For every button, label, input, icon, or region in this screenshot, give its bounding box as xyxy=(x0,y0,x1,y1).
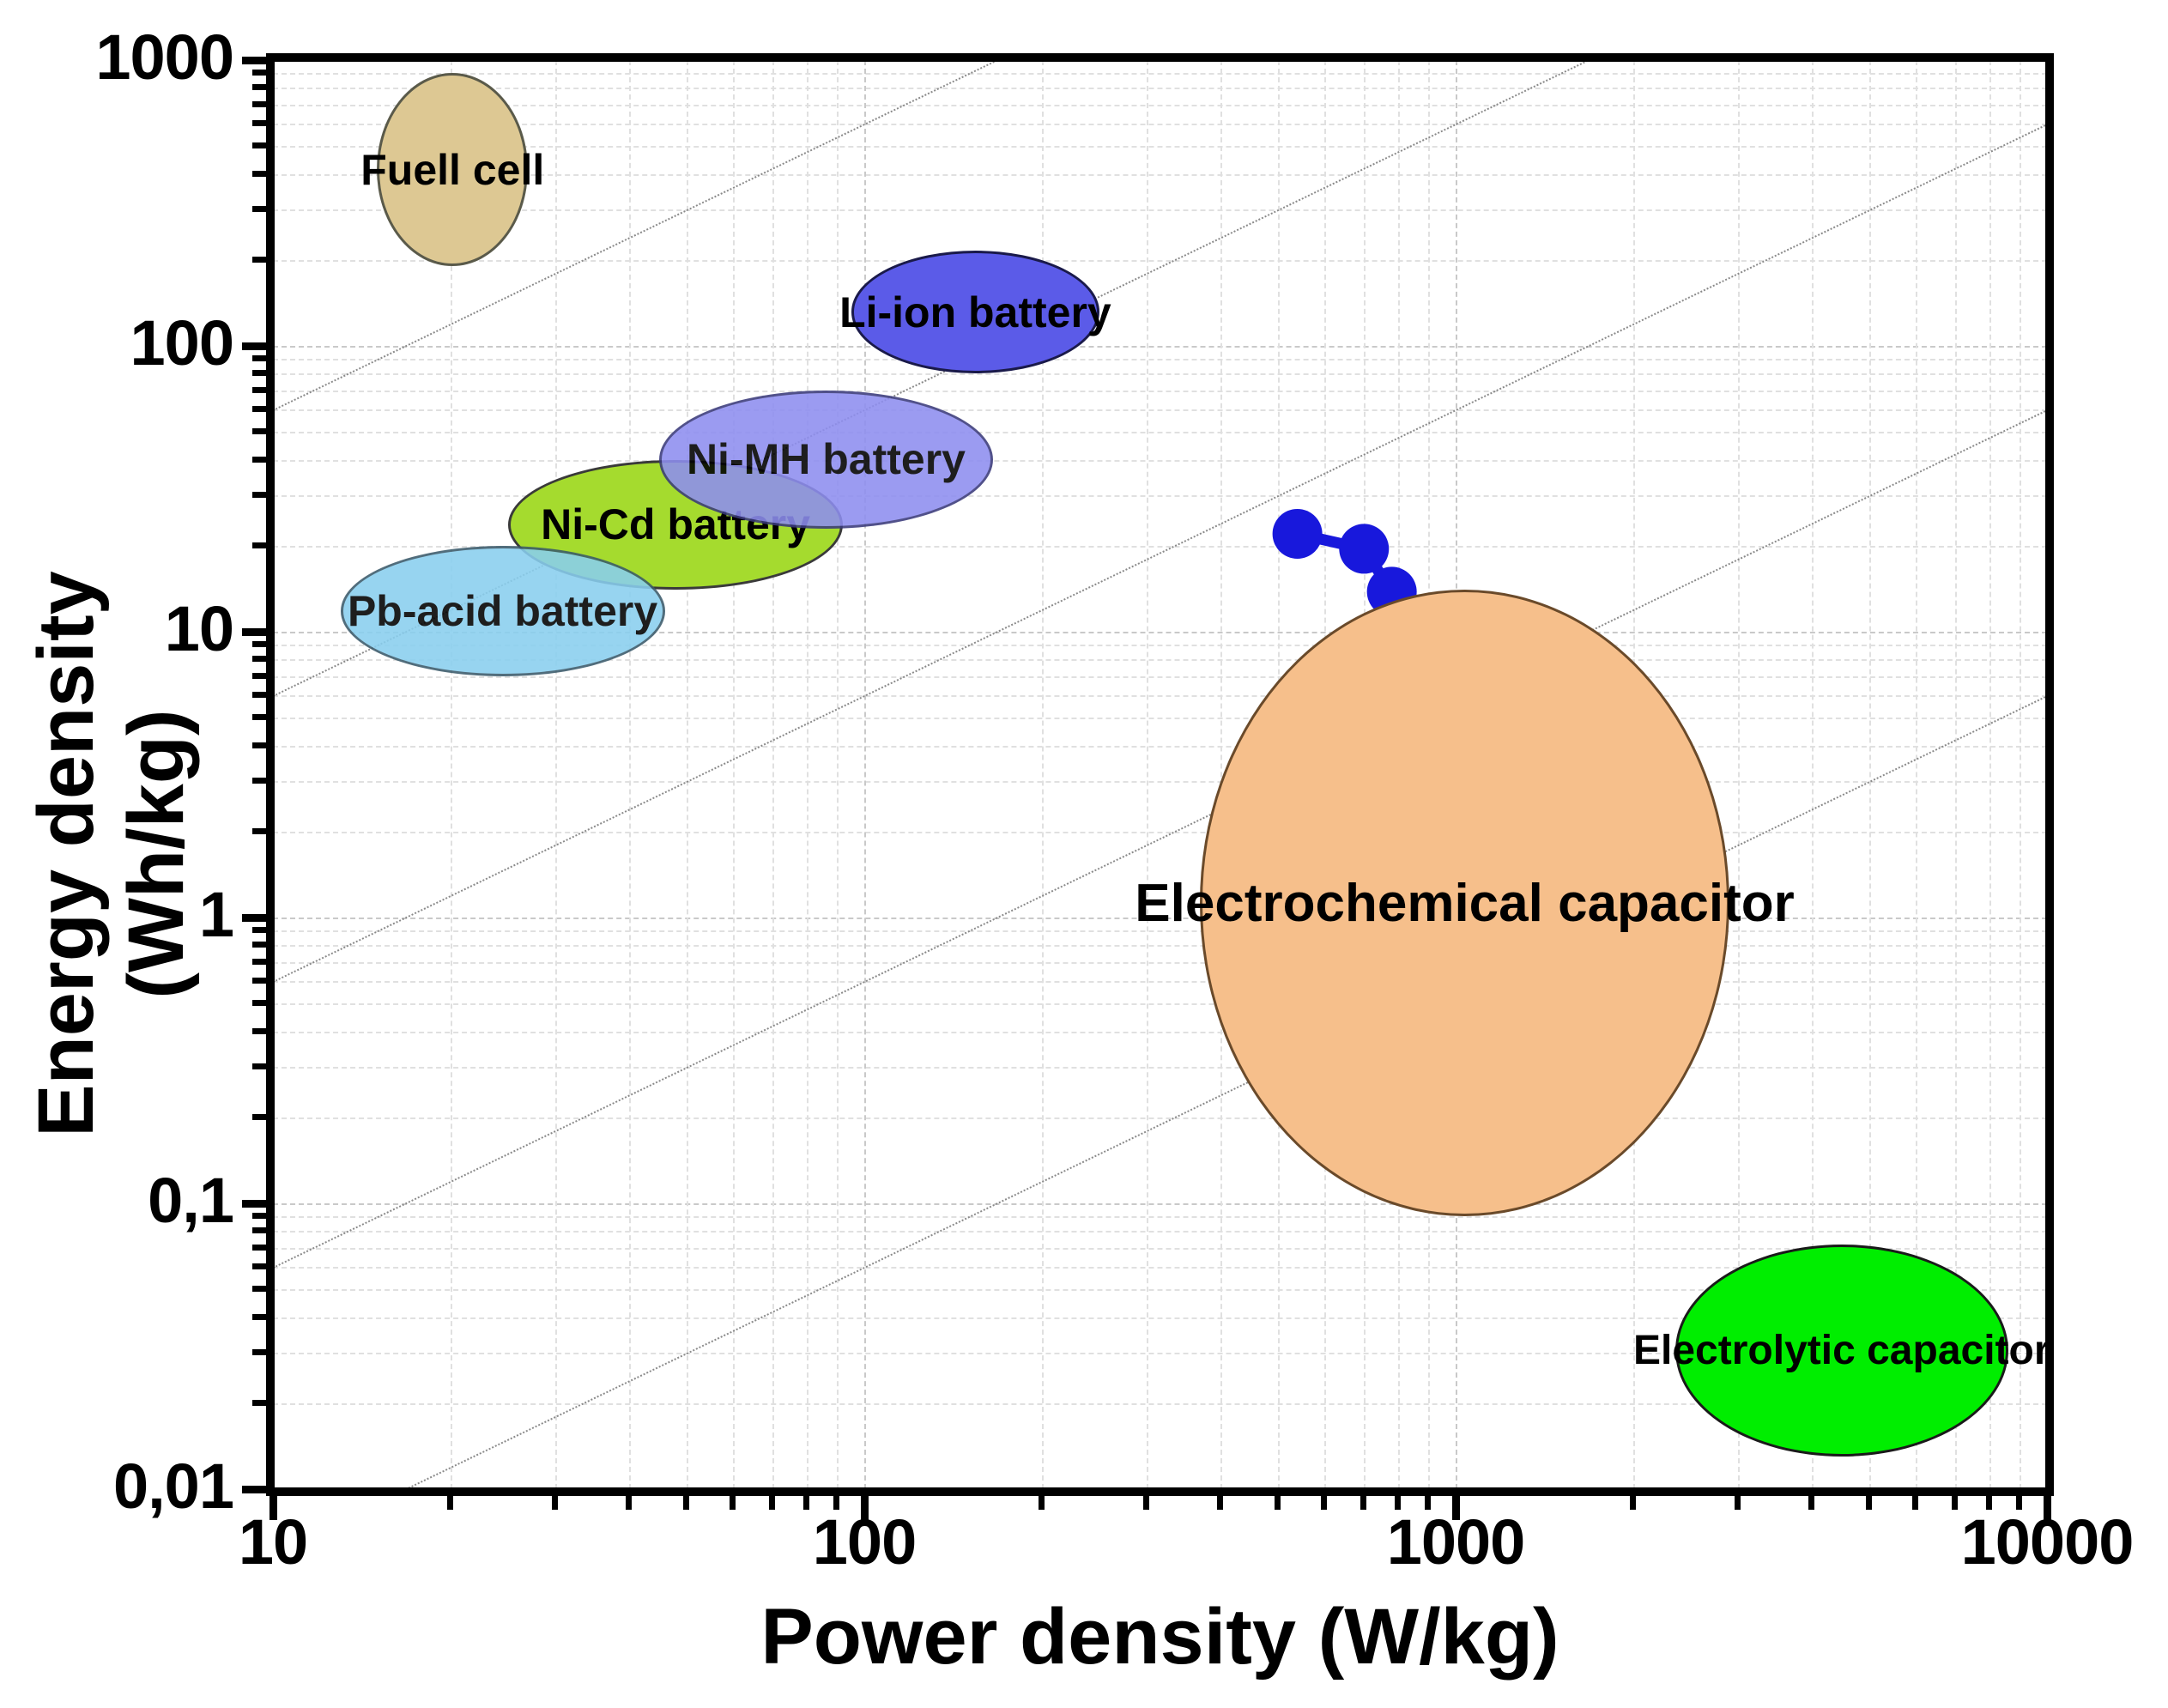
grid-line-vertical xyxy=(837,60,839,1489)
grid-line-horizontal xyxy=(273,73,2047,75)
x-tick-minor xyxy=(803,1487,809,1510)
grid-line-horizontal xyxy=(273,409,2047,411)
y-tick-minor xyxy=(252,1114,275,1120)
grid-line-horizontal xyxy=(273,209,2047,211)
axis-spine-top xyxy=(266,53,2054,62)
grid-line-horizontal xyxy=(273,781,2047,783)
y-tick-minor xyxy=(252,120,275,126)
y-tick-major xyxy=(242,914,275,922)
y-tick-minor xyxy=(252,101,275,107)
y-tick-minor xyxy=(252,70,275,76)
grid-line-horizontal xyxy=(273,962,2047,964)
y-tick-minor xyxy=(252,978,275,984)
x-tick-minor xyxy=(730,1487,736,1510)
grid-line-vertical xyxy=(629,60,631,1489)
y-tick-minor xyxy=(252,1400,275,1406)
x-tick-minor xyxy=(1275,1487,1281,1510)
x-tick-minor xyxy=(552,1487,558,1510)
region-label: Li-ion battery xyxy=(839,288,1111,337)
y-tick-minor xyxy=(252,1314,275,1320)
grid-line-horizontal xyxy=(273,260,2047,262)
x-tick-minor xyxy=(1217,1487,1223,1510)
grid-line-horizontal xyxy=(273,718,2047,719)
x-tick-label: 10 xyxy=(101,1511,445,1574)
y-tick-minor xyxy=(252,171,275,177)
grid-line-horizontal xyxy=(273,1203,2047,1205)
x-tick-minor xyxy=(1360,1487,1366,1510)
y-tick-minor xyxy=(252,492,275,498)
x-tick-minor xyxy=(1912,1487,1918,1510)
y-tick-minor xyxy=(252,542,275,548)
y-tick-minor xyxy=(252,457,275,463)
x-tick-minor xyxy=(769,1487,775,1510)
x-tick-minor xyxy=(626,1487,632,1510)
x-tick-minor xyxy=(1808,1487,1814,1510)
region-ellipse: Ni-MH battery xyxy=(659,391,993,529)
grid-line-horizontal xyxy=(273,432,2047,433)
grid-line-horizontal xyxy=(273,359,2047,360)
x-tick-minor xyxy=(683,1487,689,1510)
x-tick-label: 1000 xyxy=(1284,1511,1627,1574)
y-tick-minor xyxy=(252,778,275,784)
y-tick-label: 100 xyxy=(0,312,233,375)
y-tick-minor xyxy=(252,742,275,748)
y-tick-minor xyxy=(252,142,275,148)
y-tick-minor xyxy=(252,942,275,948)
y-tick-minor xyxy=(252,1263,275,1269)
grid-line-vertical xyxy=(1989,60,1991,1489)
axis-spine-bottom xyxy=(266,1487,2054,1496)
x-tick-minor xyxy=(1866,1487,1872,1510)
grid-line-horizontal xyxy=(273,1067,2047,1069)
grid-line-horizontal xyxy=(273,1032,2047,1033)
y-tick-minor xyxy=(252,387,275,393)
y-tick-minor xyxy=(252,714,275,720)
y-tick-minor xyxy=(252,1286,275,1292)
region-label: Electrolytic capacitor xyxy=(1633,1327,2047,1374)
grid-line-horizontal xyxy=(273,346,2047,348)
region-label: Electrochemical capacitor xyxy=(1135,873,1794,934)
grid-line-horizontal xyxy=(273,105,2047,106)
y-tick-label: 1000 xyxy=(0,26,233,89)
region-label: Fuell cell xyxy=(360,145,544,195)
y-tick-minor xyxy=(252,927,275,933)
y-tick-major xyxy=(242,57,275,64)
axis-spine-left xyxy=(266,53,275,1496)
y-tick-minor xyxy=(252,370,275,376)
grid-line-horizontal xyxy=(273,1231,2047,1233)
y-tick-minor xyxy=(252,1227,275,1233)
x-tick-minor xyxy=(1143,1487,1149,1510)
ragone-plot-figure: Energy density (Wh/kg) Power density (W/… xyxy=(0,0,2168,1708)
y-tick-label: 1 xyxy=(0,883,233,947)
y-tick-label: 0,1 xyxy=(0,1169,233,1233)
y-tick-minor xyxy=(252,1028,275,1034)
grid-line-horizontal xyxy=(273,832,2047,833)
grid-line-vertical xyxy=(687,60,688,1489)
grid-line-horizontal xyxy=(273,981,2047,983)
grid-line-vertical xyxy=(864,60,866,1489)
plot-area: Fuell cellLi-ion batteryNi-MH batteryNi-… xyxy=(273,60,2047,1489)
grid-line-vertical xyxy=(807,60,808,1489)
x-tick-minor xyxy=(1321,1487,1327,1510)
y-tick-minor xyxy=(252,355,275,361)
grid-line-horizontal xyxy=(273,1117,2047,1119)
grid-line-horizontal xyxy=(273,373,2047,375)
grid-line-vertical xyxy=(1220,60,1222,1489)
y-tick-minor xyxy=(252,1245,275,1251)
x-tick-minor xyxy=(1630,1487,1636,1510)
y-tick-minor xyxy=(252,84,275,90)
region-ellipse: Pb-acid battery xyxy=(341,546,665,676)
y-tick-minor xyxy=(252,656,275,662)
y-axis-title: Energy density (Wh/kg) xyxy=(21,468,202,1240)
region-label: Pb-acid battery xyxy=(348,586,657,636)
x-tick-minor xyxy=(1735,1487,1741,1510)
grid-line-horizontal xyxy=(273,124,2047,125)
y-tick-minor xyxy=(252,1063,275,1069)
region-ellipse: Fuell cell xyxy=(377,73,528,266)
grid-line-vertical xyxy=(733,60,735,1489)
y-tick-major xyxy=(242,342,275,350)
y-tick-minor xyxy=(252,692,275,698)
x-tick-label: 100 xyxy=(693,1511,1036,1574)
y-tick-major xyxy=(242,1200,275,1208)
y-tick-minor xyxy=(252,673,275,679)
grid-line-vertical xyxy=(451,60,452,1489)
y-tick-minor xyxy=(252,1213,275,1219)
y-tick-label: 0,01 xyxy=(0,1455,233,1518)
grid-line-horizontal xyxy=(273,746,2047,748)
grid-line-horizontal xyxy=(273,1216,2047,1218)
grid-line-horizontal xyxy=(273,945,2047,947)
x-tick-minor xyxy=(1952,1487,1958,1510)
y-tick-minor xyxy=(252,641,275,647)
y-tick-minor xyxy=(252,828,275,834)
y-tick-minor xyxy=(252,206,275,212)
y-tick-minor xyxy=(252,959,275,965)
x-tick-minor xyxy=(1039,1487,1045,1510)
y-tick-minor xyxy=(252,428,275,434)
region-ellipse: Electrochemical capacitor xyxy=(1200,590,1729,1216)
region-ellipse: Li-ion battery xyxy=(851,251,1100,373)
axis-spine-right xyxy=(2045,53,2054,1496)
region-ellipse: Electrolytic capacitor xyxy=(1675,1245,2008,1457)
grid-line-horizontal xyxy=(273,695,2047,697)
grid-line-horizontal xyxy=(273,460,2047,462)
x-axis-title: Power density (W/kg) xyxy=(273,1592,2047,1682)
y-tick-minor xyxy=(252,1000,275,1006)
region-label: Ni-MH battery xyxy=(687,434,966,484)
y-tick-minor xyxy=(252,406,275,412)
grid-line-horizontal xyxy=(273,1248,2047,1250)
grid-line-horizontal xyxy=(273,676,2047,678)
grid-line-vertical xyxy=(2020,60,2021,1489)
y-tick-label: 10 xyxy=(0,597,233,661)
grid-line-horizontal xyxy=(273,1003,2047,1005)
x-tick-minor xyxy=(447,1487,453,1510)
x-tick-label: 10000 xyxy=(1875,1511,2168,1574)
y-tick-minor xyxy=(252,1349,275,1355)
grid-line-vertical xyxy=(772,60,774,1489)
grid-line-horizontal xyxy=(273,88,2047,89)
y-tick-minor xyxy=(252,257,275,263)
y-tick-major xyxy=(242,628,275,636)
grid-line-horizontal xyxy=(273,391,2047,392)
data-point-marker xyxy=(1273,509,1323,559)
